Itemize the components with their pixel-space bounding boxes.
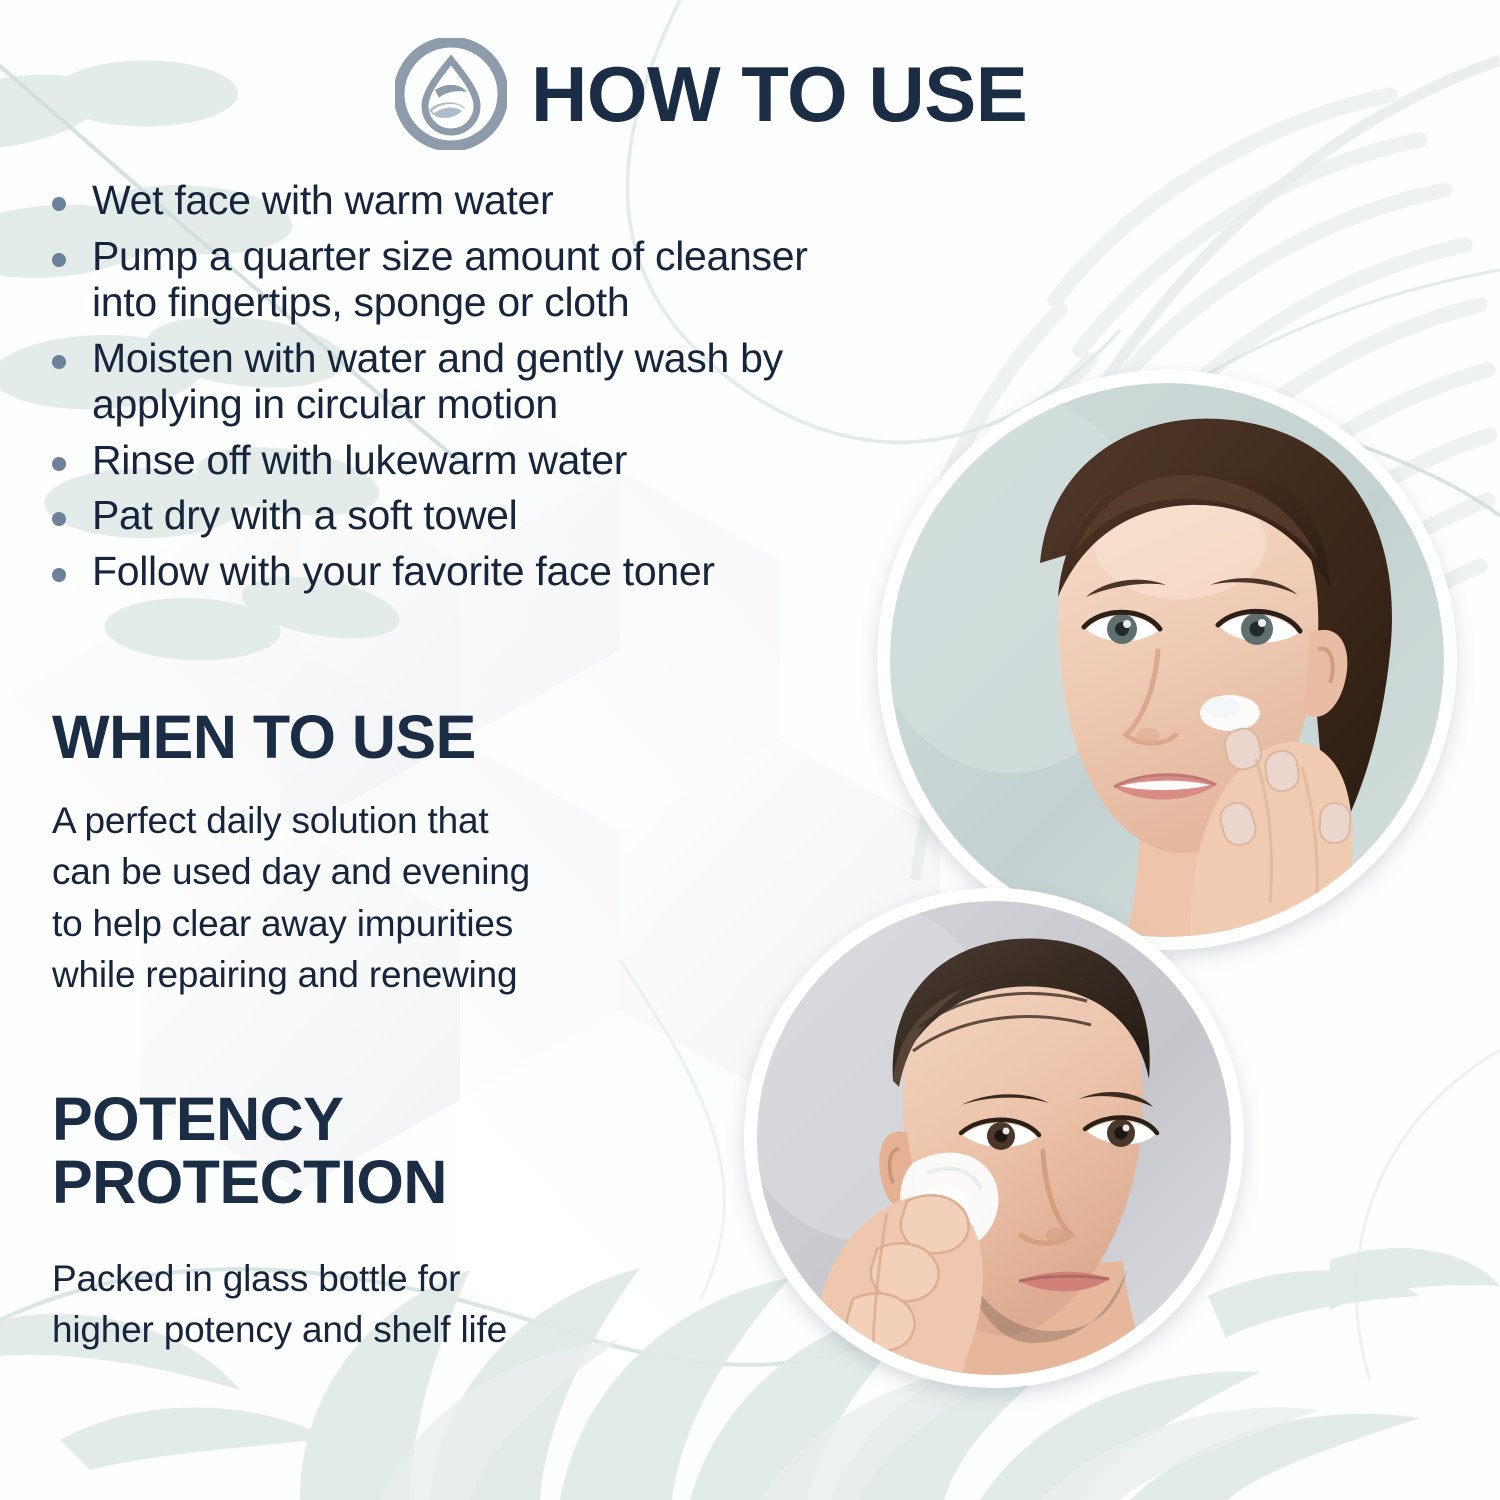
list-item: Follow with your favorite face toner <box>52 549 982 595</box>
list-item: Moisten with water and gently wash by ap… <box>52 336 982 428</box>
list-item: Rinse off with lukewarm water <box>52 438 982 484</box>
step-text: Moisten with water and gently wash by ap… <box>92 336 783 428</box>
bullet-icon <box>52 568 66 582</box>
step-text: Pat dry with a soft towel <box>92 493 517 539</box>
bullet-icon <box>52 253 66 267</box>
when-to-use-heading: WHEN TO USE <box>52 706 692 769</box>
list-item: Wet face with warm water <box>52 178 982 224</box>
page-header: HOW TO USE <box>395 38 1027 150</box>
bullet-icon <box>52 197 66 211</box>
step-text: Follow with your favorite face toner <box>92 549 715 595</box>
woman-applying-cream-photo <box>877 370 1457 950</box>
woman-photo-image <box>890 383 1444 937</box>
water-droplet-leaf-logo-icon <box>395 38 507 150</box>
potency-protection-section: POTENCY PROTECTION Packed in glass bottl… <box>52 1088 692 1355</box>
step-text: Rinse off with lukewarm water <box>92 438 627 484</box>
when-to-use-body: A perfect daily solution that can be use… <box>52 795 692 999</box>
bullet-icon <box>52 457 66 471</box>
infographic-canvas: HOW TO USE Wet face with warm water Pump… <box>0 0 1500 1500</box>
man-applying-cleanser-photo <box>744 888 1244 1388</box>
page-title: HOW TO USE <box>531 55 1027 133</box>
potency-protection-heading: POTENCY PROTECTION <box>52 1088 692 1215</box>
step-text: Wet face with warm water <box>92 178 553 224</box>
potency-protection-body: Packed in glass bottle for higher potenc… <box>52 1253 692 1355</box>
bullet-icon <box>52 512 66 526</box>
step-text: Pump a quarter size amount of cleanser i… <box>92 234 808 326</box>
man-photo-image <box>757 901 1231 1375</box>
bullet-icon <box>52 355 66 369</box>
list-item: Pump a quarter size amount of cleanser i… <box>52 234 982 326</box>
how-to-use-steps-list: Wet face with warm water Pump a quarter … <box>52 178 982 605</box>
list-item: Pat dry with a soft towel <box>52 493 982 539</box>
when-to-use-section: WHEN TO USE A perfect daily solution tha… <box>52 706 692 1000</box>
